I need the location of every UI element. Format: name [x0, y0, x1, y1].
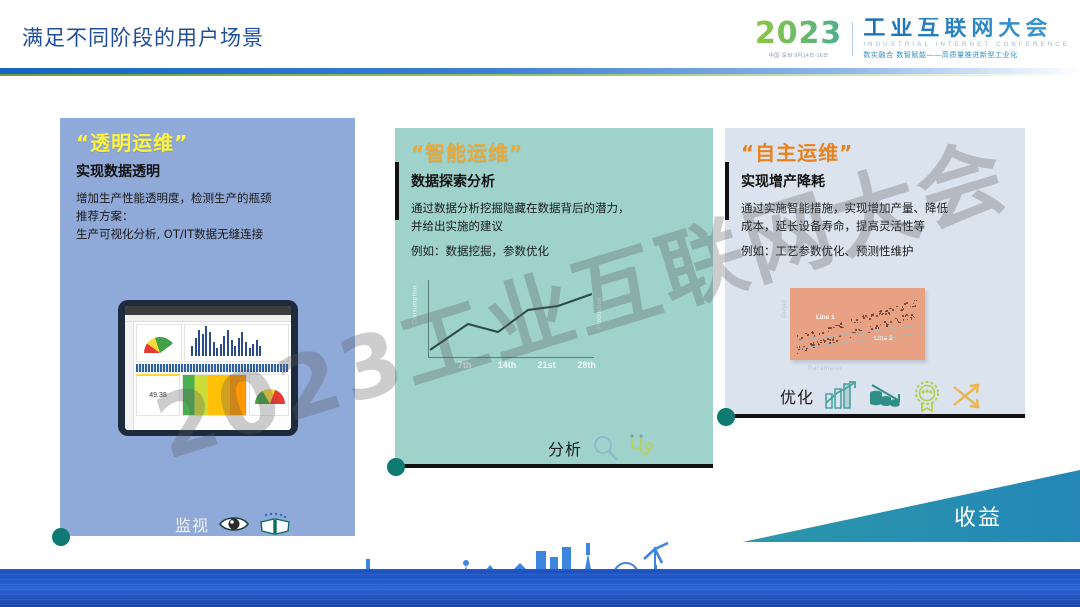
- tablet-content: 49.38: [125, 322, 291, 430]
- kpi-widget: 49.38: [136, 374, 180, 416]
- scatter-ylabel: Output: [782, 300, 788, 318]
- logo-year-subtitle: 中国·深圳 9月14日-16日: [755, 52, 843, 59]
- growth-chart-icon: [824, 381, 858, 411]
- logo-name-block: 工业互联网大会 INDUSTRIAL INTERNET CONFERENCE 数…: [853, 18, 1070, 60]
- card1-footer-label: 监视: [175, 512, 209, 536]
- scatter-point: [831, 327, 833, 329]
- gauge-widget-1: [136, 324, 182, 362]
- scatter-point: [900, 310, 902, 312]
- scatter-point: [812, 331, 814, 333]
- card1-body: 增加生产性能透明度，检测生产的瓶颈 推荐方案： 生产可视化分析, OT/IT数据…: [76, 190, 339, 243]
- scatter-point: [913, 303, 915, 305]
- tablet-bar: [245, 342, 247, 356]
- tablet-row-top: [136, 324, 289, 362]
- scatter-point: [860, 322, 862, 324]
- scatter-xlabel: Parameter: [808, 365, 843, 372]
- scatter-point: [915, 305, 917, 307]
- scatter-point: [904, 303, 906, 305]
- card1-subtitle: 实现数据透明: [76, 161, 339, 181]
- tablet-row-bottom: 49.38: [136, 374, 289, 416]
- coins-down-icon: [868, 381, 902, 411]
- tablet-dashboard-image: 49.38: [118, 300, 298, 436]
- card3-line-1: 通过实施智能措施，实现增加产量、降低: [741, 200, 1009, 218]
- scatter-point: [833, 337, 835, 339]
- scatter-point: [892, 309, 894, 311]
- scatter-point: [885, 313, 887, 315]
- card2-body: 通过数据分析挖掘隐藏在数据背后的潜力， 并给出实施的建议 例如：数据挖掘，参数优…: [411, 200, 697, 260]
- scatter-point: [856, 319, 858, 321]
- card3-subtitle: 实现增产降耗: [741, 171, 1009, 191]
- bar-chart-tick: 28th: [577, 360, 596, 370]
- scatter-point: [872, 314, 874, 316]
- bar-widget: [184, 324, 289, 362]
- scatter-point: [805, 350, 807, 352]
- scatter-point: [910, 317, 912, 319]
- card2-subtitle: 数据探索分析: [411, 171, 697, 191]
- bar-chart-ylabel: Consumption: [412, 286, 418, 325]
- conference-logo: 2023 中国·深圳 9月14日-16日 工业互联网大会 INDUSTRIAL …: [755, 18, 1070, 60]
- scatter-point: [855, 329, 857, 331]
- scatter-point: [906, 302, 908, 304]
- scatter-point: [863, 317, 865, 319]
- tablet-bar: [252, 344, 254, 356]
- scatter-point: [875, 327, 877, 329]
- scatter-point: [850, 337, 852, 339]
- scatter-point: [898, 321, 900, 323]
- scatter-point: [899, 322, 901, 324]
- card2-line-2: 并给出实施的建议: [411, 218, 697, 236]
- scatter-point: [911, 314, 913, 316]
- tablet-bar: [216, 348, 218, 356]
- scatter-point: [858, 329, 860, 331]
- logo-year: 2023: [755, 19, 843, 49]
- card-autonomous-ops[interactable]: “自主运维” 实现增产降耗 通过实施智能措施，实现增加产量、降低 成本，延长设备…: [725, 128, 1025, 418]
- scatter-point: [820, 342, 822, 344]
- tablet-bar: [231, 340, 233, 356]
- heatmap-widget: [182, 374, 247, 416]
- tablet-bar: [213, 342, 215, 356]
- card2-line-3: 例如：数据挖掘，参数优化: [411, 243, 697, 261]
- scatter-point: [914, 317, 916, 319]
- scatter-point: [913, 306, 915, 308]
- bar-chart-tick: 7th: [458, 360, 472, 370]
- bar-chart-xaxis: 7th14th21st28th: [428, 360, 594, 374]
- scatter-point: [828, 328, 830, 330]
- scatter-point: [833, 327, 835, 329]
- scatter-point: [857, 322, 859, 324]
- card1-line-3: 生产可视化分析, OT/IT数据无缝连接: [76, 226, 339, 244]
- scatter-point: [916, 300, 918, 302]
- tablet-screen: 49.38: [125, 306, 291, 430]
- card3-quote: “自主运维”: [741, 142, 1009, 164]
- tablet-bar: [191, 346, 193, 356]
- tablet-bar: [202, 334, 204, 356]
- water-decoration: [0, 569, 1080, 607]
- scatter-point: [822, 332, 824, 334]
- card1-line-1: 增加生产性能透明度，检测生产的瓶颈: [76, 190, 339, 208]
- tablet-side-rail: [125, 322, 134, 430]
- scatter-point: [819, 333, 821, 335]
- gauge-widget-2: [249, 374, 289, 416]
- scatter-point: [851, 319, 853, 321]
- tablet-bar: [238, 338, 240, 356]
- tablet-titlebar: [125, 306, 291, 315]
- card3-footer-label: 优化: [780, 384, 814, 408]
- logo-name-cn: 工业互联网大会: [863, 18, 1070, 40]
- scatter-point: [903, 308, 905, 310]
- tablet-bar: [209, 332, 211, 356]
- card3-line-2: 成本，延长设备寿命，提高灵活性等: [741, 218, 1009, 236]
- card1-footer: 监视: [175, 512, 291, 536]
- scatter-point: [902, 306, 904, 308]
- card2-baseline: [395, 464, 713, 468]
- parameter-correlation-scatter: Output Line 1 Line 2 Parameter: [790, 288, 925, 360]
- page-title: 满足不同阶段的用户场景: [22, 22, 264, 52]
- scatter-point: [885, 311, 887, 313]
- eye-icon: [219, 513, 249, 535]
- tablet-bar: [259, 346, 261, 356]
- card3-body: 通过实施智能措施，实现增加产量、降低 成本，延长设备寿命，提高灵活性等 例如：工…: [741, 200, 1009, 260]
- scatter-point: [869, 318, 871, 320]
- scatter-point: [828, 331, 830, 333]
- card3-baseline: [725, 414, 1025, 418]
- scatter-point: [911, 318, 913, 320]
- tablet-bar: [234, 346, 236, 356]
- tablet-bar: [223, 336, 225, 356]
- scatter-point: [843, 327, 845, 329]
- bar-chart-plot: [428, 280, 594, 358]
- benefit-ribbon-label: 收益: [954, 500, 1002, 532]
- card1-line-2: 推荐方案：: [76, 208, 339, 226]
- card3-left-edge: [725, 162, 729, 220]
- card2-quote: “智能运维”: [411, 142, 697, 164]
- logo-name-en: INDUSTRIAL INTERNET CONFERENCE: [863, 42, 1070, 48]
- tablet-bar: [205, 326, 207, 356]
- scatter-point: [814, 335, 816, 337]
- scatter-point: [797, 353, 799, 355]
- tablet-bar: [195, 338, 197, 356]
- scatter-point: [884, 321, 886, 323]
- card2-left-edge: [395, 162, 399, 220]
- scatter-point: [870, 326, 872, 328]
- consumption-production-bar-chart: Consumption Production 7th14th21st28th: [410, 280, 598, 376]
- scatter-point: [880, 324, 882, 326]
- quality-badge-icon: [912, 380, 942, 412]
- scatter-point: [880, 310, 882, 312]
- card1-quote: “透明运维”: [76, 132, 339, 154]
- tablet-menubar: [125, 315, 291, 322]
- scatter-point: [836, 325, 838, 327]
- card2-line-1: 通过数据分析挖掘隐藏在数据背后的潜力，: [411, 200, 697, 218]
- title-rule-green: [0, 74, 1080, 76]
- logo-tagline: 数实融合 数智赋能——高质量推进新型工业化: [863, 50, 1070, 60]
- tablet-bar: [198, 330, 200, 356]
- tablet-bar: [227, 330, 229, 356]
- tablet-bar: [256, 340, 258, 356]
- scatter-point: [830, 339, 832, 341]
- scatter-point: [841, 322, 843, 324]
- shuffle-arrows-icon: [952, 381, 984, 411]
- scatter-point: [854, 322, 856, 324]
- scatter-trendline: [798, 324, 924, 341]
- tablet-dashboard-grid: 49.38: [134, 322, 291, 430]
- scatter-point: [907, 319, 909, 321]
- slide-root: 满足不同阶段的用户场景 2023 中国·深圳 9月14日-16日 工业互联网大会…: [0, 0, 1080, 607]
- scatter-point: [797, 335, 799, 337]
- scatter-series-label-1: Line 1: [816, 314, 835, 321]
- card2-corner-dot: [387, 458, 405, 476]
- scatter-point: [903, 319, 905, 321]
- bar-chart-tick: 21st: [538, 360, 556, 370]
- logo-year-block: 2023 中国·深圳 9月14日-16日: [755, 19, 853, 59]
- scatter-point: [878, 327, 880, 329]
- magnifier-icon: [592, 435, 618, 461]
- tablet-bar: [220, 344, 222, 356]
- scatter-point: [890, 321, 892, 323]
- scatter-point: [881, 314, 883, 316]
- scatter-point: [836, 340, 838, 342]
- card2-footer-label: 分析: [548, 436, 582, 460]
- scatter-point: [896, 306, 898, 308]
- bar-chart-ylabel-right: Production: [597, 297, 603, 329]
- bar-chart-tick: 14th: [498, 360, 517, 370]
- scatter-point: [807, 334, 809, 336]
- card3-line-3: 例如：工艺参数优化、预测性维护: [741, 243, 1009, 261]
- scatter-point: [886, 326, 888, 328]
- tablet-bar: [249, 348, 251, 356]
- scatter-point: [886, 323, 888, 325]
- tablet-bar: [241, 332, 243, 356]
- scatter-point: [887, 324, 889, 326]
- scatter-point: [902, 315, 904, 317]
- stethoscope-icon: [628, 434, 654, 462]
- dashboard-icon: [259, 512, 291, 536]
- scatter-point: [876, 315, 878, 317]
- card3-corner-dot: [717, 408, 735, 426]
- scatter-point: [906, 314, 908, 316]
- strip-chart-widget: [136, 364, 289, 372]
- scatter-point: [832, 339, 834, 341]
- card2-footer: 分析: [548, 434, 654, 462]
- card3-footer: 优化: [780, 380, 984, 412]
- scatter-point: [895, 318, 897, 320]
